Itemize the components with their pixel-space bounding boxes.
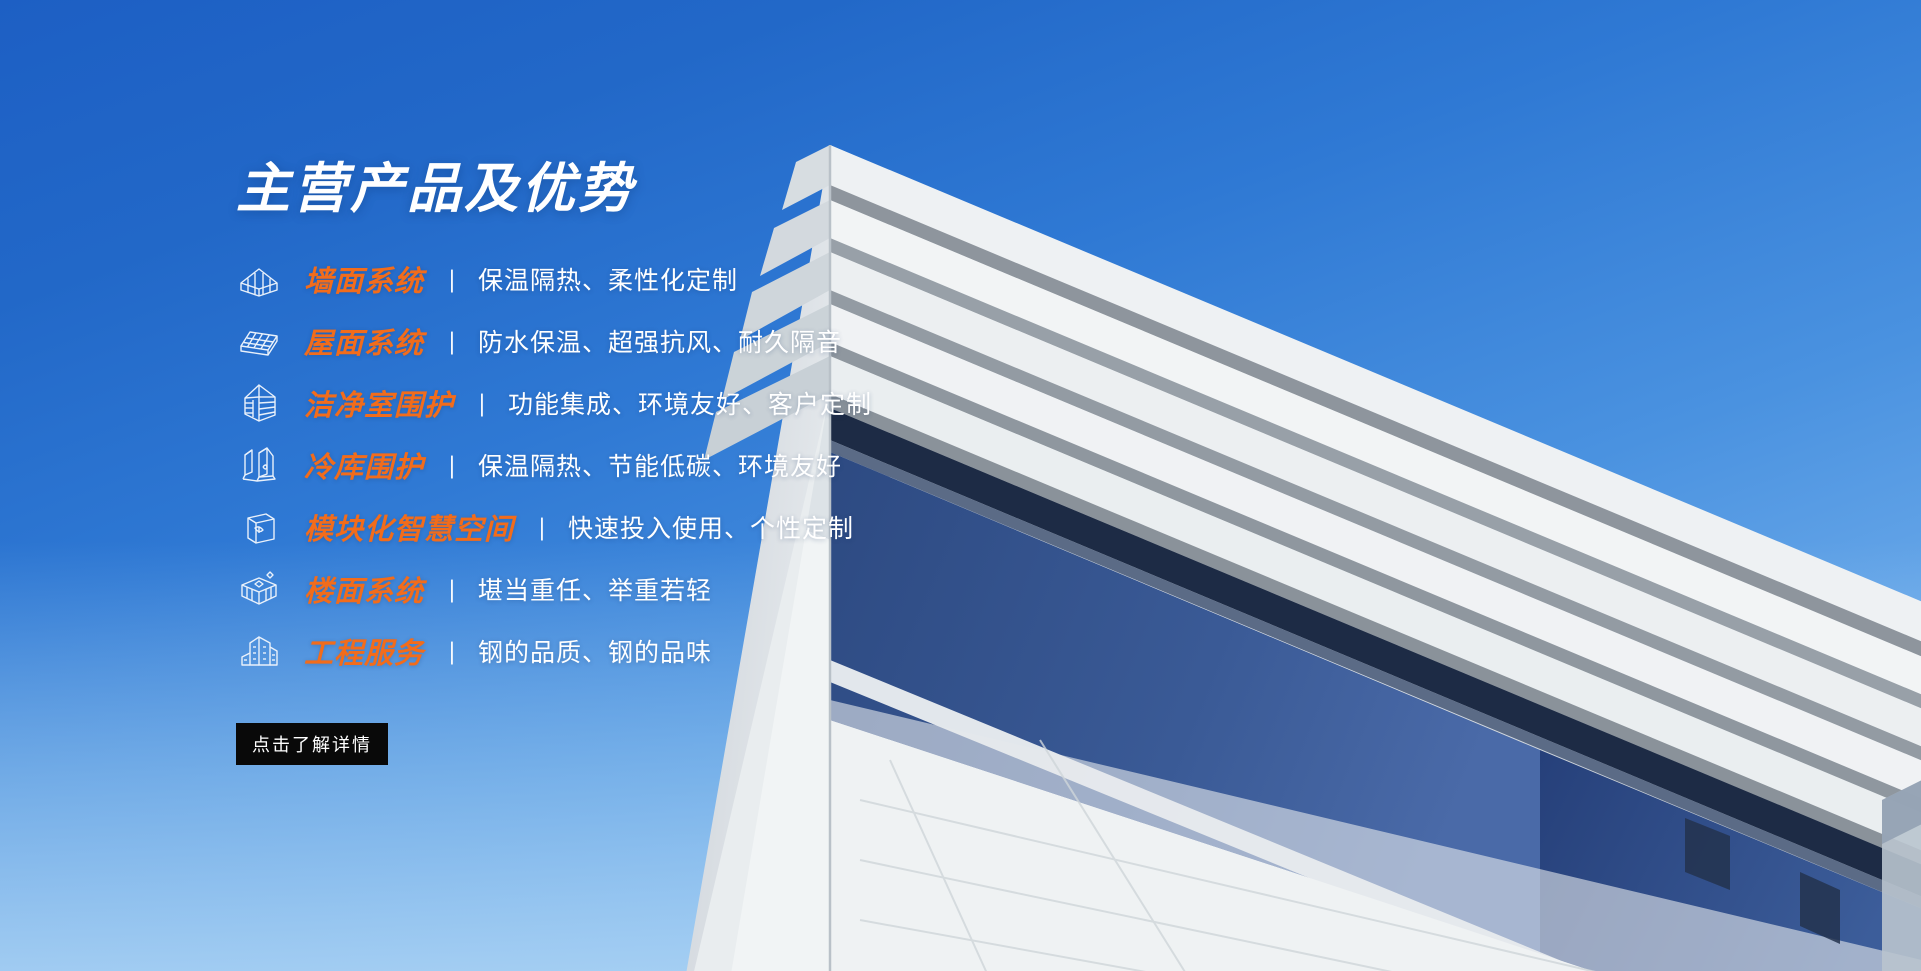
product-label: 冷库围护 (304, 444, 424, 486)
product-description: 快速投入使用、个性定制 (568, 509, 854, 545)
product-description: 保温隔热、节能低碳、环境友好 (478, 447, 842, 483)
list-item[interactable]: 墙面系统 丨 保温隔热、柔性化定制 (236, 253, 1056, 305)
modular-cube-icon (236, 504, 282, 550)
list-item[interactable]: 模块化智慧空间 丨 快速投入使用、个性定制 (236, 501, 1056, 553)
learn-more-button[interactable]: 点击了解详情 (236, 723, 388, 765)
product-description: 堪当重任、举重若轻 (478, 571, 712, 607)
separator-bar: 丨 (445, 634, 460, 669)
product-label: 模块化智慧空间 (304, 506, 514, 548)
coldstorage-icon (236, 442, 282, 488)
cleanroom-icon (236, 380, 282, 426)
product-description: 保温隔热、柔性化定制 (478, 261, 738, 297)
product-advantage-banner: 主营产品及优势 墙面系统 丨 保温隔热、柔性化定制 (0, 0, 1921, 971)
roof-panel-icon (236, 318, 282, 364)
product-description: 钢的品质、钢的品味 (478, 633, 712, 669)
list-item[interactable]: 冷库围护 丨 保温隔热、节能低碳、环境友好 (236, 439, 1056, 491)
separator-bar: 丨 (445, 262, 460, 297)
product-label: 屋面系统 (304, 320, 424, 362)
list-item[interactable]: 洁净室围护 丨 功能集成、环境友好、客户定制 (236, 377, 1056, 429)
product-label: 楼面系统 (304, 568, 424, 610)
product-label: 洁净室围护 (304, 382, 454, 424)
separator-bar: 丨 (535, 510, 550, 545)
page-title: 主营产品及优势 (236, 160, 1056, 219)
separator-bar: 丨 (445, 572, 460, 607)
banner-content: 主营产品及优势 墙面系统 丨 保温隔热、柔性化定制 (236, 160, 1056, 765)
separator-bar: 丨 (475, 386, 490, 421)
product-label: 工程服务 (304, 630, 424, 672)
wall-panel-icon (236, 256, 282, 302)
product-description: 功能集成、环境友好、客户定制 (508, 385, 872, 421)
floor-deck-icon (236, 566, 282, 612)
list-item[interactable]: 楼面系统 丨 堪当重任、举重若轻 (236, 563, 1056, 615)
separator-bar: 丨 (445, 324, 460, 359)
list-item[interactable]: 屋面系统 丨 防水保温、超强抗风、耐久隔音 (236, 315, 1056, 367)
list-item[interactable]: 工程服务 丨 钢的品质、钢的品味 (236, 625, 1056, 677)
product-list: 墙面系统 丨 保温隔热、柔性化定制 屋面系统 丨 防水保温、超强抗 (236, 253, 1056, 677)
engineering-icon (236, 628, 282, 674)
product-label: 墙面系统 (304, 258, 424, 300)
product-description: 防水保温、超强抗风、耐久隔音 (478, 323, 842, 359)
separator-bar: 丨 (445, 448, 460, 483)
